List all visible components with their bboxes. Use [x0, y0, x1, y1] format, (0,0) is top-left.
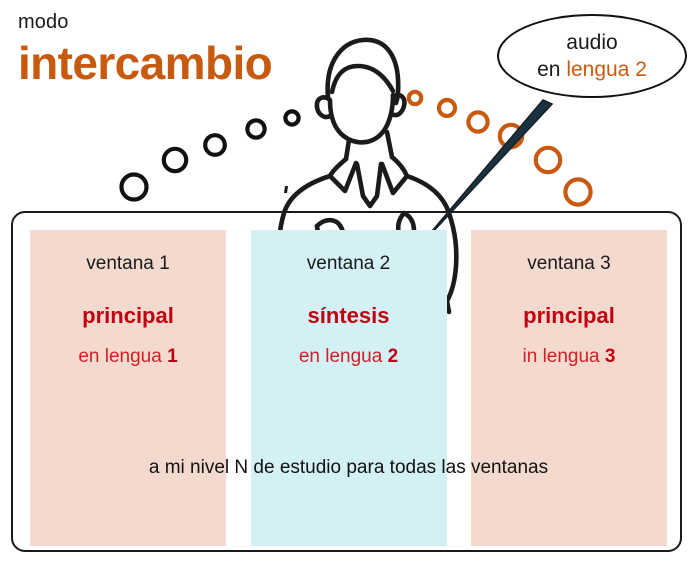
window-column-2-title: ventana 2	[251, 252, 447, 276]
speech-bubble-line-2-accent: lengua 2	[566, 58, 647, 81]
speech-bubble: audio en lengua 2	[497, 14, 687, 98]
heading-eyebrow: modo	[18, 10, 272, 34]
windows-columns-row: ventana 1 principal en lengua 1 ventana …	[30, 230, 667, 546]
window-column-3-sub-prefix: in lengua	[523, 346, 600, 367]
window-column-2-main: síntesis	[251, 302, 447, 330]
window-column-1-title: ventana 1	[30, 252, 226, 276]
window-column-2-sub-number: 2	[388, 346, 399, 367]
windows-container: ventana 1 principal en lengua 1 ventana …	[11, 211, 682, 552]
window-column-3-sub: in lengua 3	[471, 344, 667, 369]
window-column-2-sub-prefix: en lengua	[299, 346, 382, 367]
window-column-2-sub: en lengua 2	[251, 344, 447, 369]
page-title: intercambio	[18, 36, 272, 90]
window-column-3-main: principal	[471, 302, 667, 330]
window-column-1-sub: en lengua 1	[30, 344, 226, 369]
speech-bubble-line-2-prefix: en	[537, 58, 560, 81]
window-column-3-title: ventana 3	[471, 252, 667, 276]
window-column-2[interactable]: ventana 2 síntesis en lengua 2	[251, 230, 447, 546]
right-bubble-trail-icon	[409, 92, 591, 205]
window-column-1[interactable]: ventana 1 principal en lengua 1	[30, 230, 226, 546]
windows-footer-note: a mi nivel N de estudio para todas las v…	[13, 456, 684, 480]
speech-bubble-line-2: en lengua 2	[537, 56, 647, 83]
heading-block: modo intercambio	[18, 10, 272, 90]
left-bubble-trail-icon	[122, 111, 299, 199]
window-column-3-sub-number: 3	[605, 346, 616, 367]
window-column-3[interactable]: ventana 3 principal in lengua 3	[471, 230, 667, 546]
window-column-1-sub-number: 1	[167, 346, 178, 367]
speech-bubble-line-1: audio	[566, 29, 617, 56]
window-column-1-main: principal	[30, 302, 226, 330]
window-column-1-sub-prefix: en lengua	[78, 346, 161, 367]
